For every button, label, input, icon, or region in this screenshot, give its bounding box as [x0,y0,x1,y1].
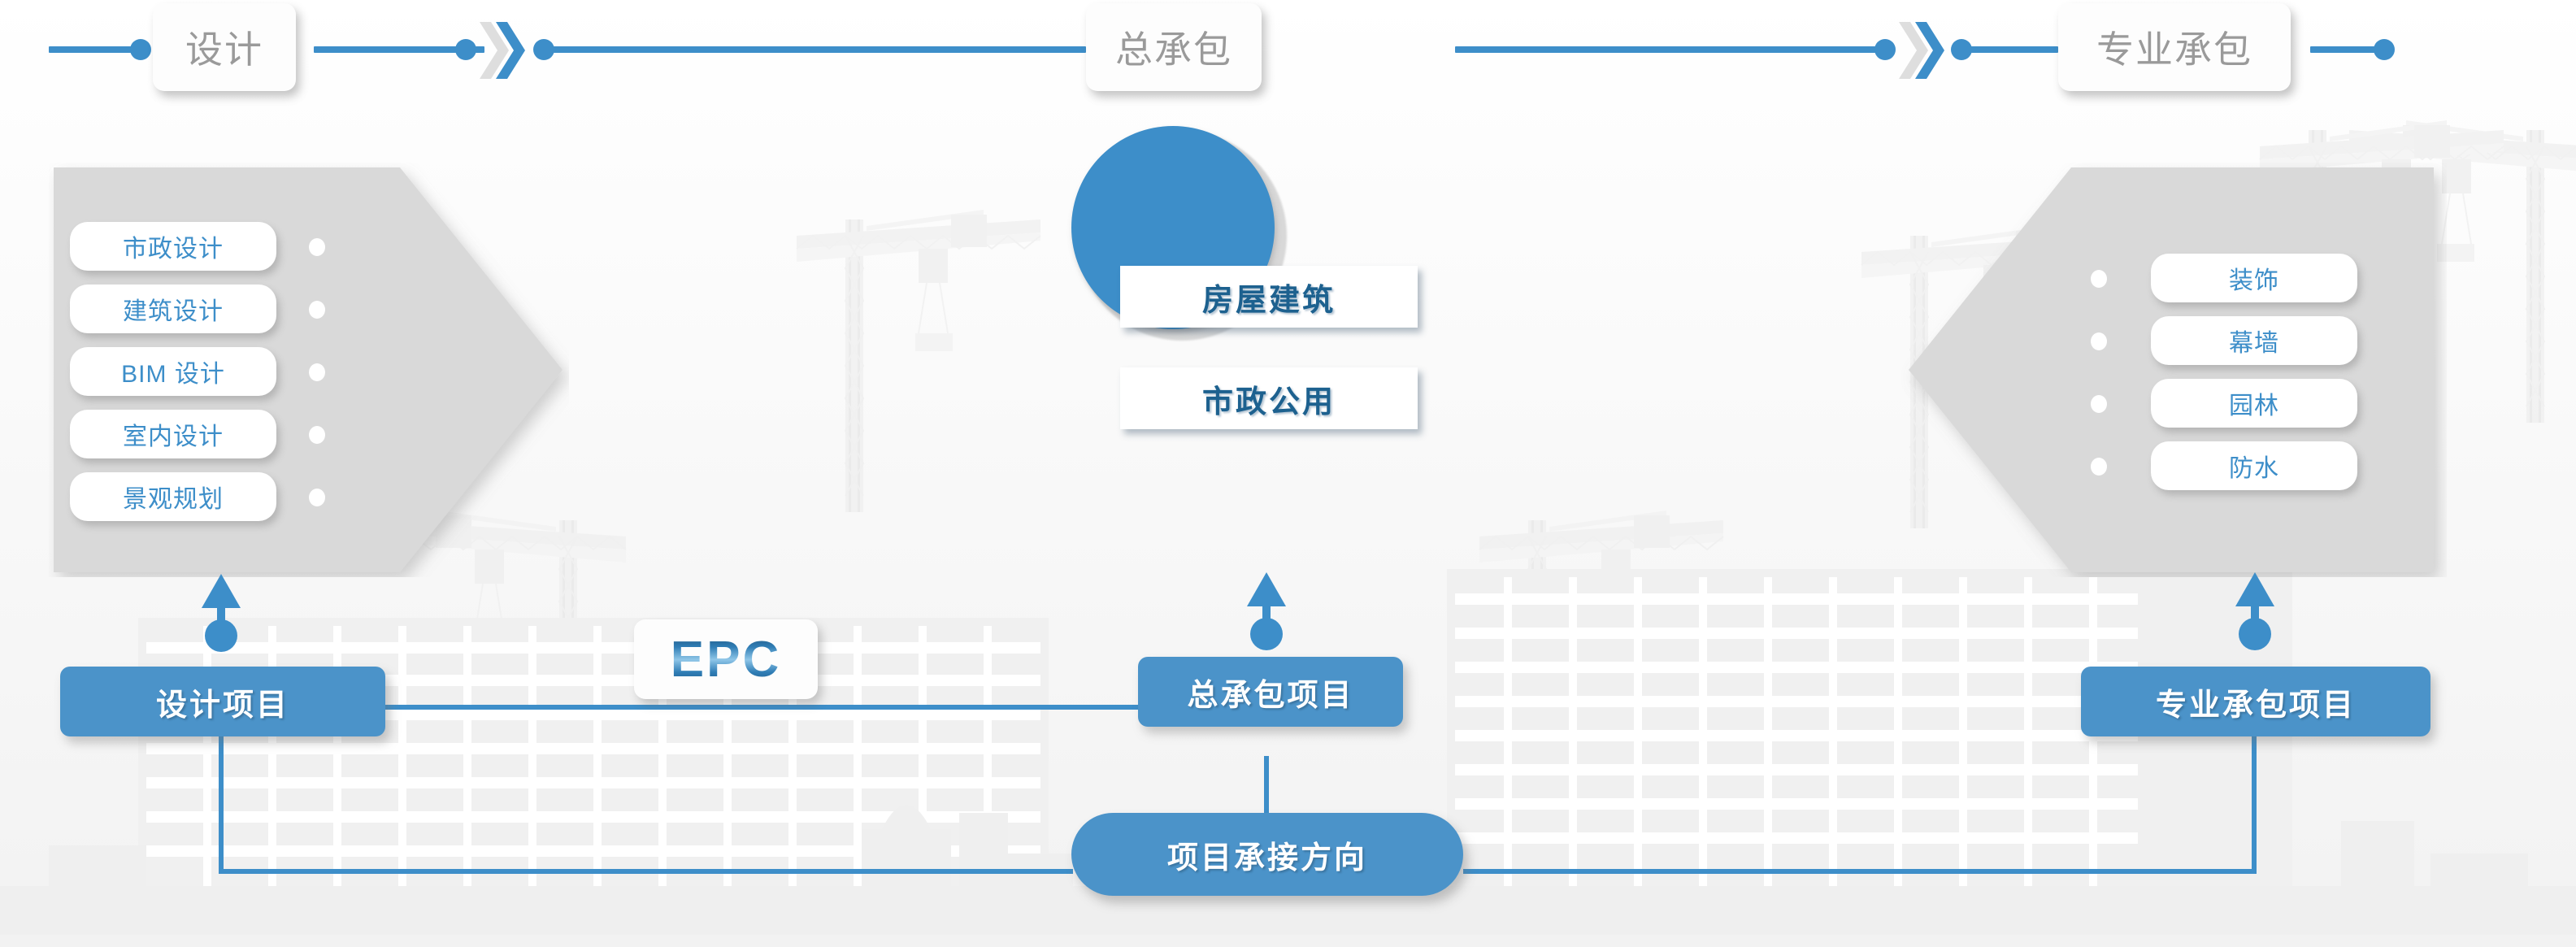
bullet-dot-icon [309,489,325,506]
specialty-item-label: 园林 [2229,385,2279,421]
specialty-item-label: 幕墙 [2229,323,2279,358]
up-arrow-icon [1240,569,1292,650]
design-item-label: 建筑设计 [123,291,224,327]
bullet-dot-icon [309,426,325,444]
diagram-canvas: 设计 总承包 专业承包 市政设计 [0,0,2576,947]
design-item-pill[interactable]: 市政设计 [70,222,276,271]
specialty-panel: 装饰 幕墙 园林 防水 [1878,163,2447,577]
specialty-item-label: 防水 [2229,448,2279,484]
specialty-item-pill[interactable]: 防水 [2151,441,2357,490]
double-chevron-right-icon [478,20,527,80]
phase-card-general-contract[interactable]: 总承包 [1086,3,1262,91]
timeline-rail-5 [1967,46,2058,53]
specialty-item-label: 装饰 [2229,260,2279,296]
design-item-pill[interactable]: BIM 设计 [70,347,276,396]
up-arrow-icon [195,571,247,652]
design-item-pill[interactable]: 景观规划 [70,472,276,521]
center-item-label: 市政公用 [1202,376,1336,421]
bullet-dot-icon [309,238,325,256]
general-contract-project-box[interactable]: 总承包项目 [1138,657,1403,727]
phase-label-specialty-contract: 专业承包 [2096,20,2252,74]
design-item-pill[interactable]: 建筑设计 [70,285,276,333]
epc-badge: EPC [634,619,818,699]
specialty-contract-project-box[interactable]: 专业承包项目 [2081,667,2430,736]
general-contract-project-label: 总承包项目 [1187,670,1353,715]
timeline-node-dot-icon [130,39,151,60]
center-item-label: 房屋建筑 [1202,275,1336,319]
design-item-label: BIM 设计 [121,354,225,389]
up-arrow-icon [2229,569,2281,650]
epc-label: EPC [671,631,781,689]
design-item-pill[interactable]: 室内设计 [70,410,276,458]
design-project-box[interactable]: 设计项目 [60,667,385,736]
bullet-dot-icon [2091,458,2107,476]
timeline-rail-4 [1455,46,1884,53]
phase-label-design: 设计 [185,20,263,74]
phase-label-general-contract: 总承包 [1115,20,1232,74]
design-item-label: 室内设计 [123,416,224,452]
specialty-item-pill[interactable]: 装饰 [2151,254,2357,302]
direction-box[interactable]: 项目承接方向 [1071,813,1463,896]
bullet-dot-icon [309,301,325,319]
bullet-dot-icon [309,363,325,381]
timeline-rail-1 [49,46,137,53]
direction-box-label: 项目承接方向 [1167,832,1367,877]
phase-card-specialty-contract[interactable]: 专业承包 [2058,3,2291,91]
timeline-node-dot-icon [2374,39,2395,60]
design-panel: 市政设计 建筑设计 BIM 设计 室内设计 景观规划 [49,163,569,577]
specialty-contract-project-label: 专业承包项目 [2156,680,2356,724]
design-item-label: 市政设计 [123,228,224,264]
center-item-bar[interactable]: 房屋建筑 [1120,266,1418,328]
specialty-item-pill[interactable]: 幕墙 [2151,316,2357,365]
timeline-node-dot-icon [455,39,476,60]
bullet-dot-icon [2091,270,2107,288]
bullet-dot-icon [2091,395,2107,413]
bullet-dot-icon [2091,332,2107,350]
timeline-node-dot-icon [1874,39,1896,60]
center-item-bar[interactable]: 市政公用 [1120,367,1418,429]
design-item-label: 景观规划 [123,479,224,515]
phase-card-design[interactable]: 设计 [153,3,296,91]
timeline-rail-3 [550,46,1086,53]
double-chevron-right-icon [1897,20,1946,80]
design-project-label: 设计项目 [156,680,289,724]
specialty-item-pill[interactable]: 园林 [2151,379,2357,428]
